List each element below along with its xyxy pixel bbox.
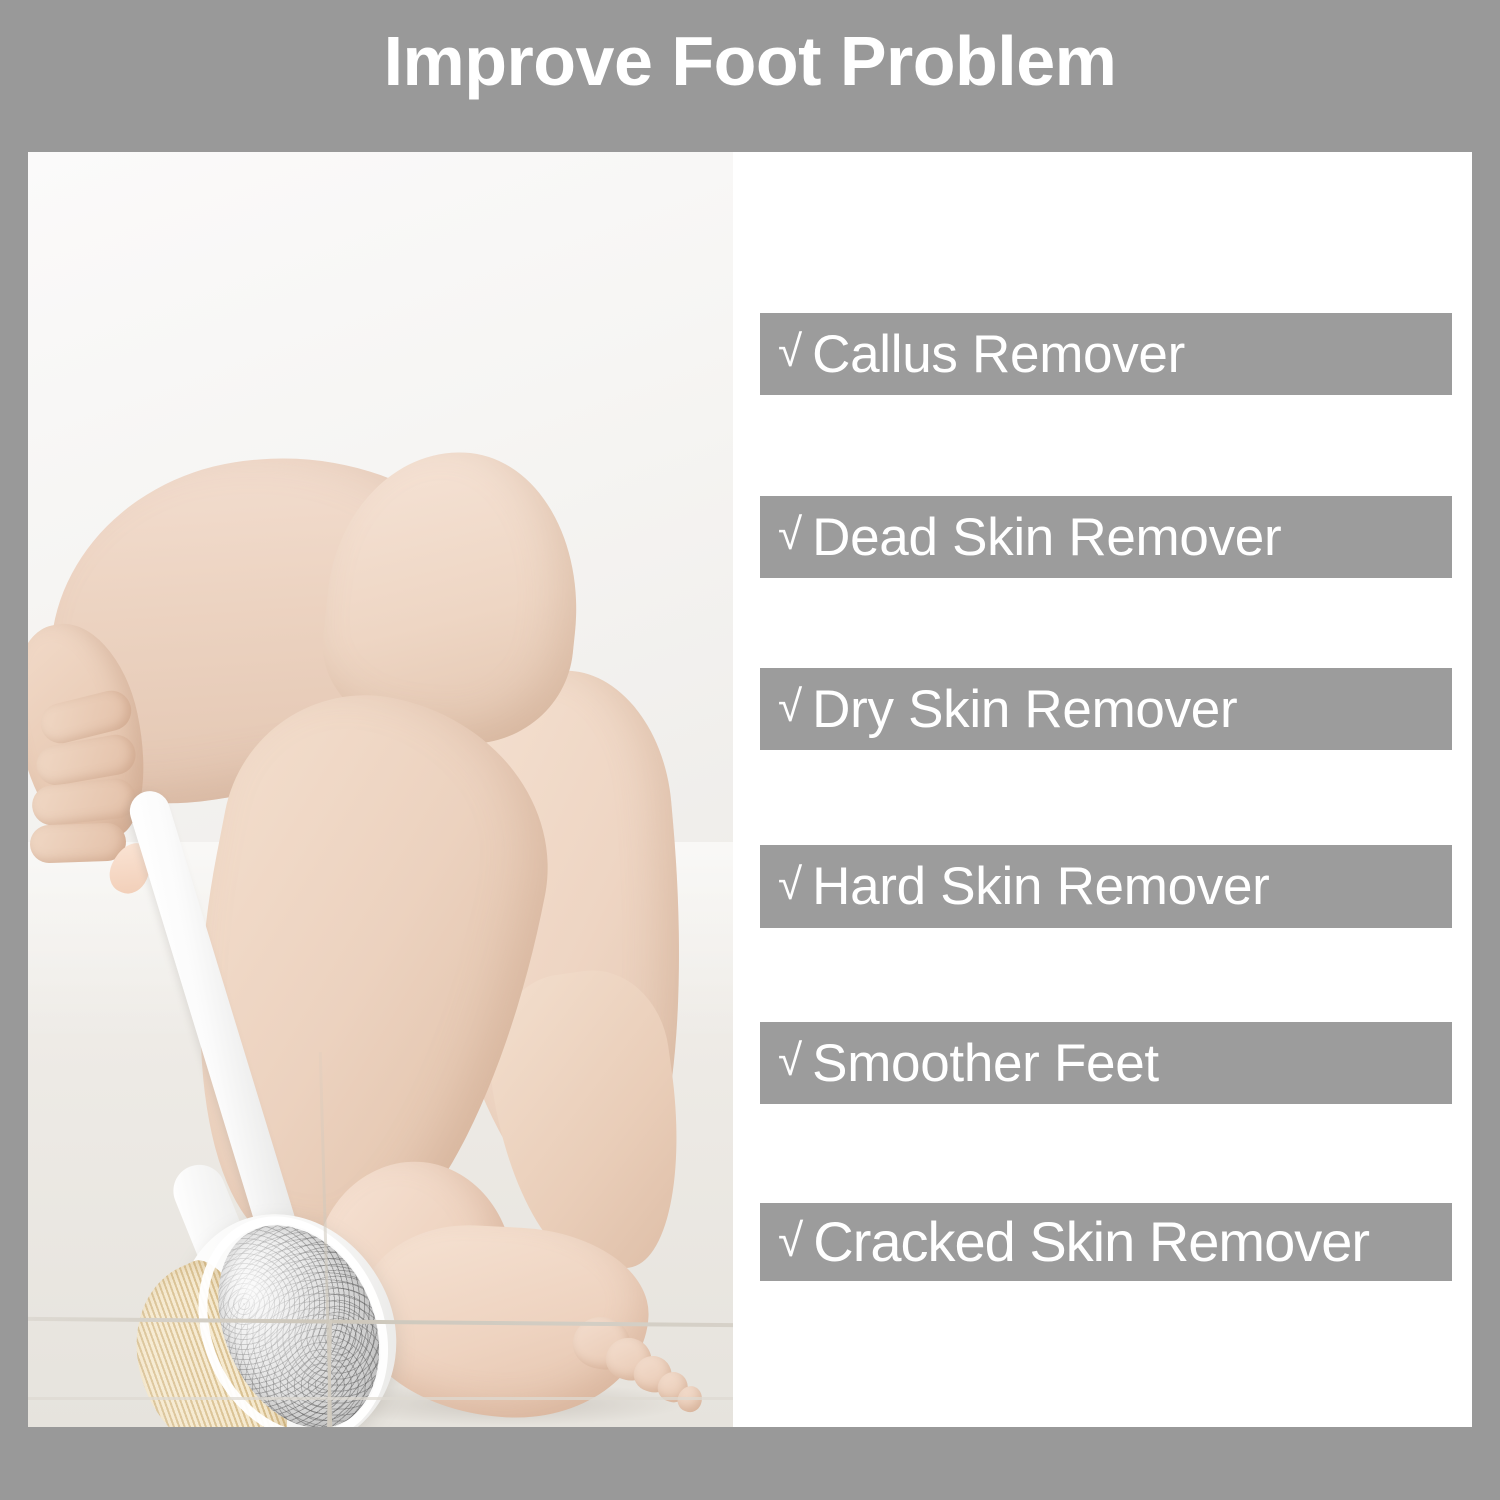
- benefit-label: Dry Skin Remover: [812, 683, 1237, 736]
- check-icon: √: [778, 1217, 803, 1263]
- content-card: √ Callus Remover √ Dead Skin Remover √ D…: [28, 152, 1472, 1427]
- benefit-label: Smoother Feet: [812, 1037, 1159, 1090]
- benefit-item-hard-skin-remover: √ Hard Skin Remover: [760, 845, 1452, 928]
- benefit-label: Dead Skin Remover: [812, 511, 1281, 564]
- check-icon: √: [778, 863, 802, 907]
- check-icon: √: [778, 685, 802, 729]
- check-icon: √: [778, 330, 802, 374]
- benefit-item-dry-skin-remover: √ Dry Skin Remover: [760, 668, 1452, 750]
- check-icon: √: [778, 1039, 802, 1083]
- product-photo: [28, 152, 733, 1427]
- benefit-item-dead-skin-remover: √ Dead Skin Remover: [760, 496, 1452, 578]
- benefit-item-callus-remover: √ Callus Remover: [760, 313, 1452, 395]
- tile-grout-line: [28, 1397, 733, 1400]
- check-icon: √: [778, 513, 802, 557]
- page-title: Improve Foot Problem: [0, 26, 1500, 96]
- finger: [29, 822, 126, 863]
- benefit-label: Hard Skin Remover: [812, 860, 1269, 913]
- benefit-label: Callus Remover: [812, 328, 1185, 381]
- benefit-item-cracked-skin-remover: √ Cracked Skin Remover: [760, 1203, 1452, 1281]
- benefit-label: Cracked Skin Remover: [813, 1214, 1369, 1270]
- benefit-item-smoother-feet: √ Smoother Feet: [760, 1022, 1452, 1104]
- benefits-list: √ Callus Remover √ Dead Skin Remover √ D…: [733, 152, 1472, 1427]
